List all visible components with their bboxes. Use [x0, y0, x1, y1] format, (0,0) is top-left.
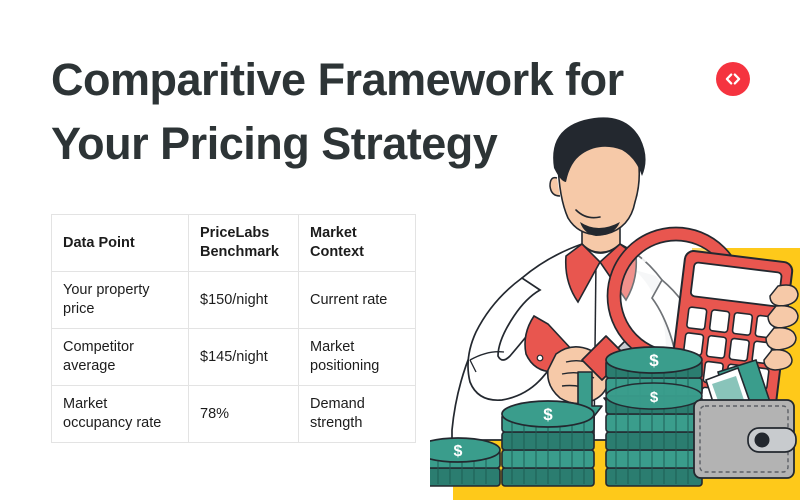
svg-text:$: $ [650, 389, 659, 406]
coin-stack-tall: $ $ [606, 347, 702, 486]
coin-stack-medium: $ [502, 401, 594, 486]
coin-stack-small: $ [430, 438, 500, 486]
svg-text:$: $ [543, 405, 553, 424]
cell-benchmark: $150/night [189, 272, 299, 329]
table-row: Competitor average $145/night Market pos… [52, 329, 416, 386]
page-title-line-1: Comparitive Framework for [51, 48, 691, 112]
code-brackets-icon[interactable] [716, 62, 750, 96]
cell-data-point: Market occupancy rate [52, 386, 189, 443]
comparison-table: Data Point PriceLabs Benchmark Market Co… [51, 214, 416, 443]
column-header-market-context: Market Context [299, 215, 416, 272]
column-header-pricelabs-benchmark: PriceLabs Benchmark [189, 215, 299, 272]
table-row: Your property price $150/night Current r… [52, 272, 416, 329]
table-header-row: Data Point PriceLabs Benchmark Market Co… [52, 215, 416, 272]
cell-context: Current rate [299, 272, 416, 329]
cell-data-point: Your property price [52, 272, 189, 329]
hero-illustration: $ $ $ [430, 110, 800, 500]
cell-benchmark: 78% [189, 386, 299, 443]
column-header-data-point: Data Point [52, 215, 189, 272]
cell-context: Market positioning [299, 329, 416, 386]
cell-data-point: Competitor average [52, 329, 189, 386]
svg-text:$: $ [454, 443, 463, 460]
svg-text:$: $ [649, 351, 659, 370]
cell-context: Demand strength [299, 386, 416, 443]
cell-benchmark: $145/night [189, 329, 299, 386]
slide-canvas: Comparitive Framework for Your Pricing S… [0, 0, 800, 500]
table-row: Market occupancy rate 78% Demand strengt… [52, 386, 416, 443]
